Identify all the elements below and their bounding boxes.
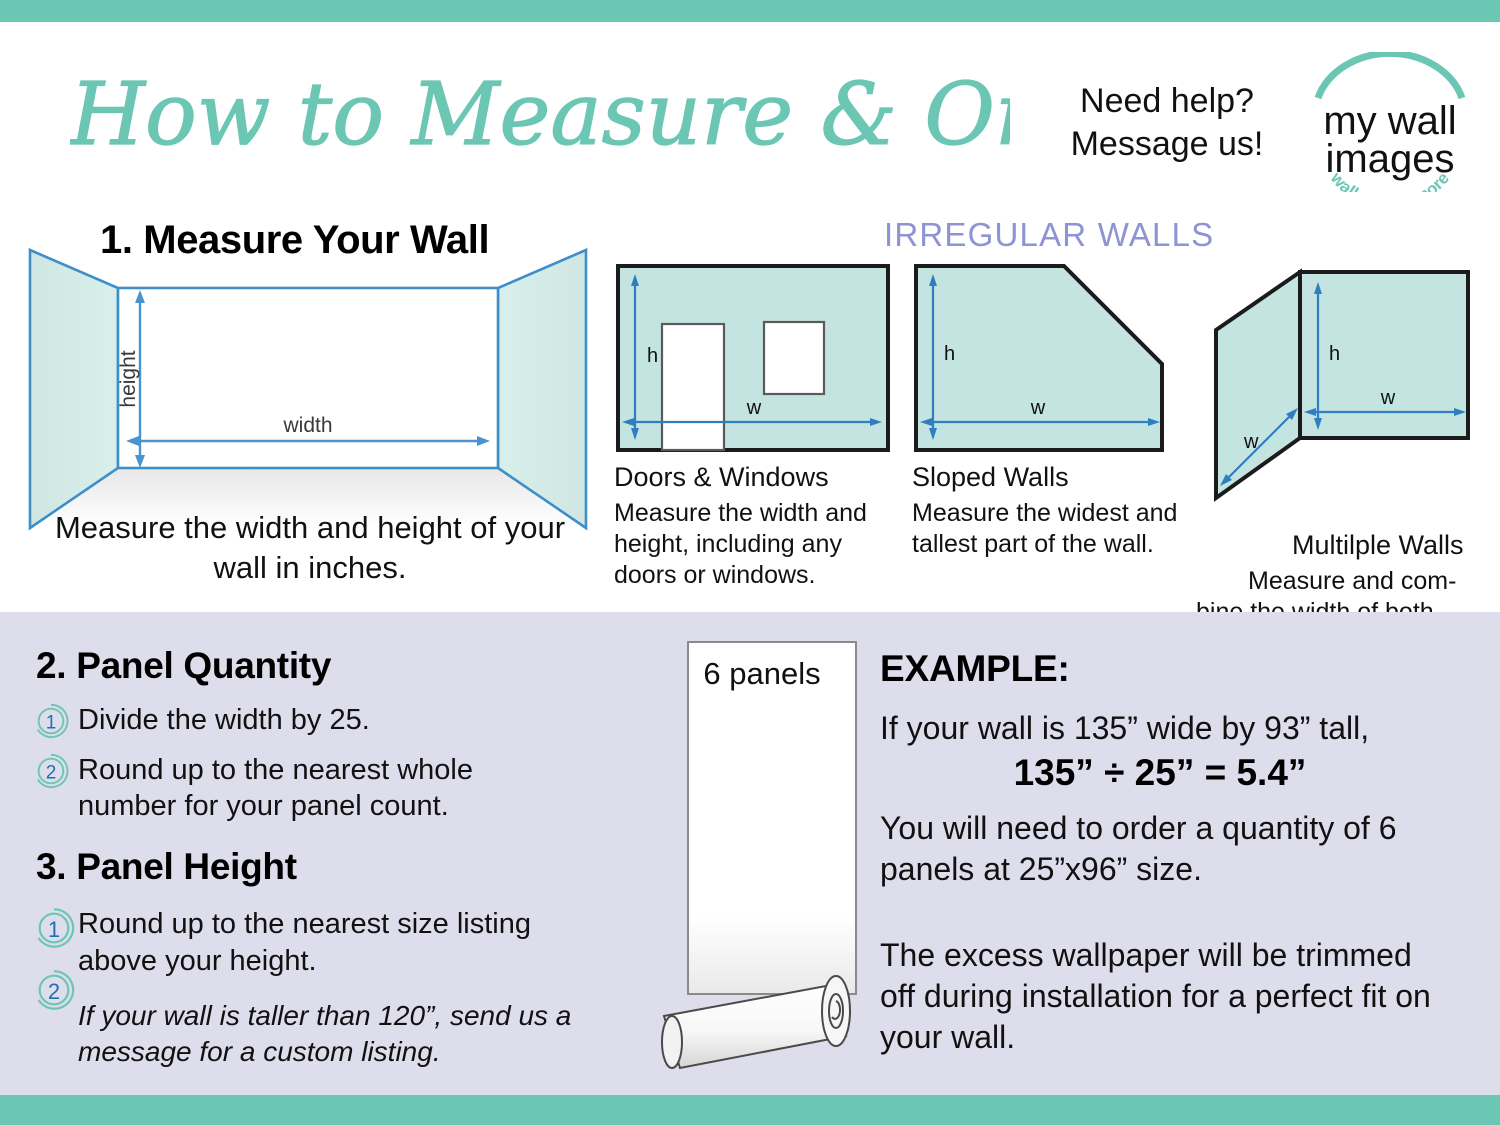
need-help-line1: Need help? — [1032, 80, 1302, 123]
section2-step-2-text: Round up to the nearest whole number for… — [78, 752, 572, 824]
step3-badge-2-icon: 2 — [32, 968, 76, 1012]
multiple-walls-name: Multilple Walls — [1292, 528, 1496, 562]
sw-h-label: h — [944, 343, 955, 365]
multiple-walls-desc-line1: Measure and com- — [1248, 566, 1496, 597]
irregular-walls-heading: IRREGULAR WALLS — [884, 216, 1214, 254]
mw-back-wall — [1300, 272, 1468, 438]
section3-note: If your wall is taller than 120”, send u… — [78, 998, 592, 1070]
sloped-walls-figure: h w — [912, 262, 1192, 454]
section1-caption: Measure the width and height of your wal… — [40, 508, 580, 588]
section3-badges: 1 2 — [32, 906, 76, 1030]
dw-h-label: h — [647, 345, 658, 367]
logo-arc-icon — [1318, 53, 1462, 98]
dw-door — [662, 324, 724, 450]
svg-text:2: 2 — [48, 979, 60, 1004]
doors-windows-desc: Measure the width and height, including … — [614, 498, 904, 591]
height-label: height — [117, 350, 140, 407]
step-badge-1-icon: 1 — [32, 702, 70, 740]
irregular-item-doors-windows: h w Doors & Windows Measure the width an… — [614, 262, 904, 591]
step-badge-2-icon: 2 — [32, 752, 70, 790]
irregular-item-sloped-walls: h w Sloped Walls Measure the widest and … — [912, 262, 1192, 560]
infographic-page: How to Measure & Order Need help? Messag… — [0, 0, 1500, 1125]
example-title: EXAMPLE: — [880, 648, 1070, 690]
mw-w2-label: w — [1243, 431, 1259, 453]
section2-title: 2. Panel Quantity — [36, 645, 331, 687]
section2-step-1-text: Divide the width by 25. — [78, 702, 370, 738]
section1-title: 1. Measure Your Wall — [100, 218, 489, 263]
mw-h-label: h — [1329, 343, 1340, 365]
example-line3: The excess wallpaper will be trimmed off… — [880, 935, 1450, 1058]
svg-text:1: 1 — [48, 917, 60, 942]
page-title-text: How to Measure & Order — [70, 65, 1010, 165]
step3-badge-1-icon: 1 — [32, 906, 76, 950]
doors-windows-name: Doors & Windows — [614, 460, 904, 494]
roll-left-end — [662, 1016, 682, 1068]
svg-text:1: 1 — [46, 713, 57, 734]
example-equation: 135” ÷ 25” = 5.4” — [880, 752, 1440, 794]
example-line2: You will need to order a quantity of 6 p… — [880, 808, 1460, 890]
section3-text: Round up to the nearest size listing abo… — [78, 906, 592, 980]
roll-panel-count-label: 6 panels — [650, 656, 874, 692]
section2-step-1: 1 Divide the width by 25. — [32, 702, 572, 740]
section3-title: 3. Panel Height — [36, 846, 297, 888]
sloped-walls-desc: Measure the widest and tallest part of t… — [912, 498, 1192, 560]
need-help-line2: Message us! — [1032, 123, 1302, 166]
dw-w-label: w — [746, 397, 762, 419]
mw-w-label: w — [1380, 387, 1396, 409]
example-line1: If your wall is 135” wide by 93” tall, — [880, 708, 1460, 748]
section3-steps: 1 2 Round up to the nearest size listing… — [32, 906, 592, 1070]
sw-w-label: w — [1030, 397, 1046, 419]
svg-text:2: 2 — [46, 763, 57, 784]
bottom-accent-bar — [0, 1095, 1500, 1125]
page-title: How to Measure & Order — [70, 52, 1010, 172]
width-label: width — [282, 414, 332, 437]
mw-side-wall — [1216, 272, 1300, 498]
section2-step-2: 2 Round up to the nearest whole number f… — [32, 752, 572, 824]
brand-logo: my wall images wallpaper + more — [1300, 52, 1480, 192]
roll-body — [664, 986, 846, 1068]
top-accent-bar — [0, 0, 1500, 22]
doors-windows-figure: h w — [614, 262, 904, 454]
dw-window — [764, 322, 824, 394]
sloped-walls-name: Sloped Walls — [912, 460, 1192, 494]
wallpaper-roll-illustration — [650, 638, 890, 1088]
irregular-item-multiple-walls: h w w Multilple Walls Measure and com- b… — [1196, 262, 1496, 659]
roll-sheet — [688, 642, 856, 994]
roll-right-end — [822, 976, 850, 1046]
need-help-block: Need help? Message us! — [1032, 80, 1302, 166]
multiple-walls-figure: h w w — [1196, 262, 1496, 522]
